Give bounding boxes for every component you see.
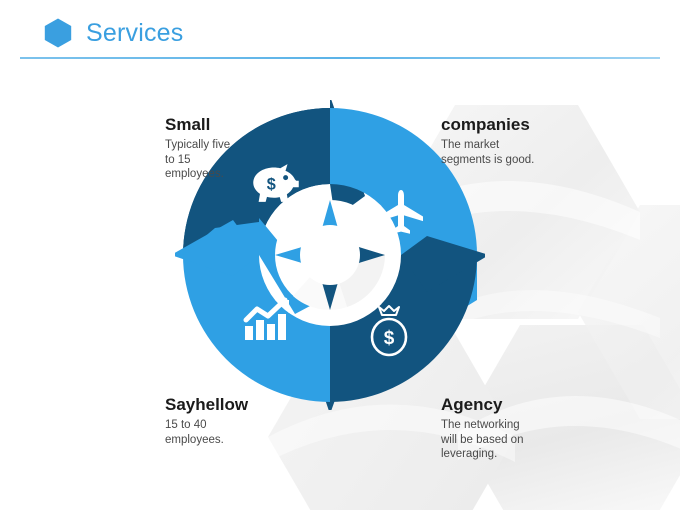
center-hub (275, 200, 385, 310)
watermark-hex-4 (578, 205, 680, 419)
label-block-sayhellow: Sayhellow 15 to 40 employees. (165, 394, 295, 447)
label-desc-agency-line1: The networking (441, 418, 601, 433)
header-divider (20, 57, 660, 59)
label-desc-agency-line2: will be based on (441, 433, 601, 448)
label-desc-small: Typically five to 15 employees. (165, 138, 285, 182)
label-block-companies: companies The market segments is good. (441, 114, 591, 167)
label-desc-sayhellow-line1: 15 to 40 (165, 418, 295, 433)
label-block-agency: Agency The networking will be based on l… (441, 394, 601, 462)
label-desc-companies-line2: segments is good. (441, 153, 591, 168)
label-title-agency: Agency (441, 394, 601, 415)
label-desc-companies: The market segments is good. (441, 138, 591, 167)
svg-text:$: $ (384, 328, 395, 349)
label-desc-sayhellow: 15 to 40 employees. (165, 418, 295, 447)
label-desc-companies-line1: The market (441, 138, 591, 153)
hexagon-icon (44, 18, 72, 48)
label-title-companies: companies (441, 114, 591, 135)
label-desc-small-line3: employees. (165, 167, 285, 182)
header-bar: Services (0, 0, 680, 60)
label-desc-sayhellow-line2: employees. (165, 433, 295, 448)
label-title-sayhellow: Sayhellow (165, 394, 295, 415)
page-title: Services (86, 17, 183, 49)
label-desc-small-line1: Typically five (165, 138, 285, 153)
label-desc-agency-line3: leveraging. (441, 447, 601, 462)
label-title-small: Small (165, 114, 285, 135)
label-block-small: Small Typically five to 15 employees. (165, 114, 285, 182)
label-desc-agency: The networking will be based on leveragi… (441, 418, 601, 462)
slide-canvas: Services (0, 0, 680, 510)
label-desc-small-line2: to 15 (165, 153, 285, 168)
